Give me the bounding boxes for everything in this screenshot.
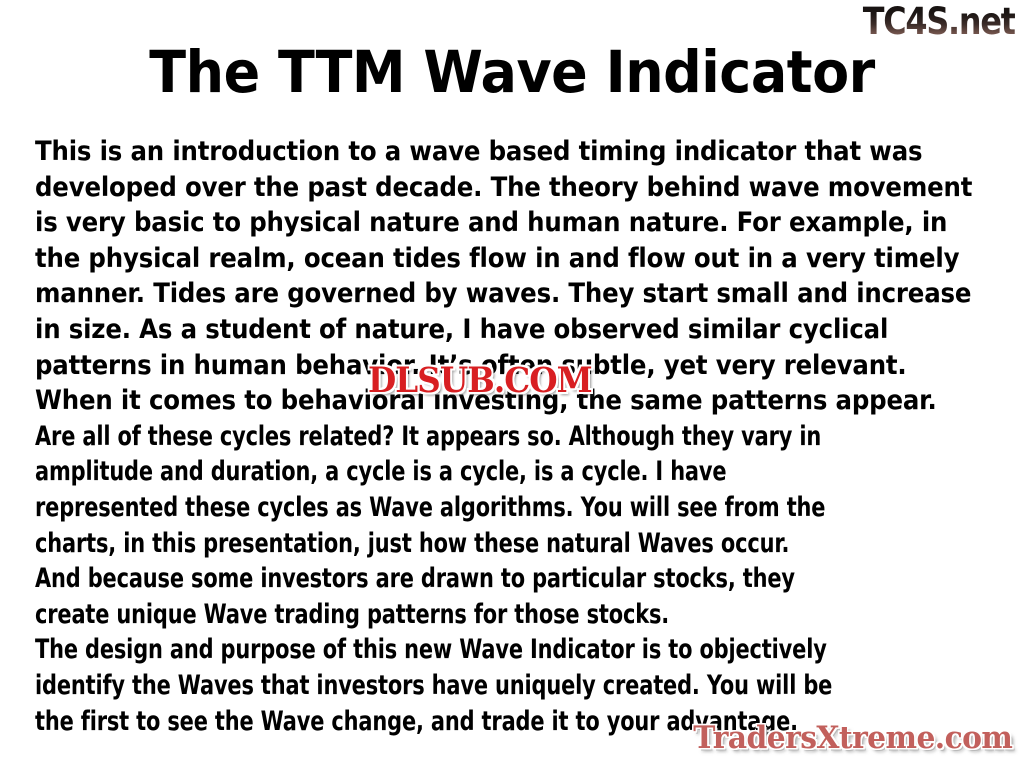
copy-line: When it comes to behavioral investing, t… [35,383,917,419]
copy-line: charts, in this presentation, just how t… [35,526,791,562]
copy-line: Are all of these cycles related? It appe… [35,419,791,455]
copy-line: And because some investors are drawn to … [35,561,791,597]
copy-line: is very basic to physical nature and hum… [35,205,917,241]
slide-canvas: TC4S.net The TTM Wave Indicator This is … [0,0,1024,768]
copy-line: identify the Waves that investors have u… [35,668,791,704]
tc4s-brand-logo-text: TC4S.net [863,3,1015,41]
paragraph-2: Are all of these cycles related? It appe… [35,419,1010,633]
copy-line: developed over the past decade. The theo… [35,170,917,206]
copy-line: amplitude and duration, a cycle is a cyc… [35,454,791,490]
copy-line: create unique Wave trading patterns for … [35,597,791,633]
tradersxtreme-brand-logo[interactable]: TradersXtreme.com [672,716,1012,760]
tradersxtreme-brand-logo-text: TradersXtreme.com [693,721,1012,755]
copy-line: patterns in human behavior. It’s often s… [35,348,917,384]
copy-line: represented these cycles as Wave algorit… [35,490,791,526]
page-title-text: The TTM Wave Indicator [149,40,875,104]
paragraph-1: This is an introduction to a wave based … [35,134,1010,419]
copy-line: The design and purpose of this new Wave … [35,632,791,668]
copy-line: the physical realm, ocean tides flow in … [35,241,917,277]
body-copy: This is an introduction to a wave based … [35,134,1010,739]
page-title: The TTM Wave Indicator [0,40,1024,104]
tc4s-brand-logo[interactable]: TC4S.net [833,1,1015,43]
copy-line: in size. As a student of nature, I have … [35,312,917,348]
copy-line: manner. Tides are governed by waves. The… [35,276,917,312]
copy-line: This is an introduction to a wave based … [35,134,917,170]
